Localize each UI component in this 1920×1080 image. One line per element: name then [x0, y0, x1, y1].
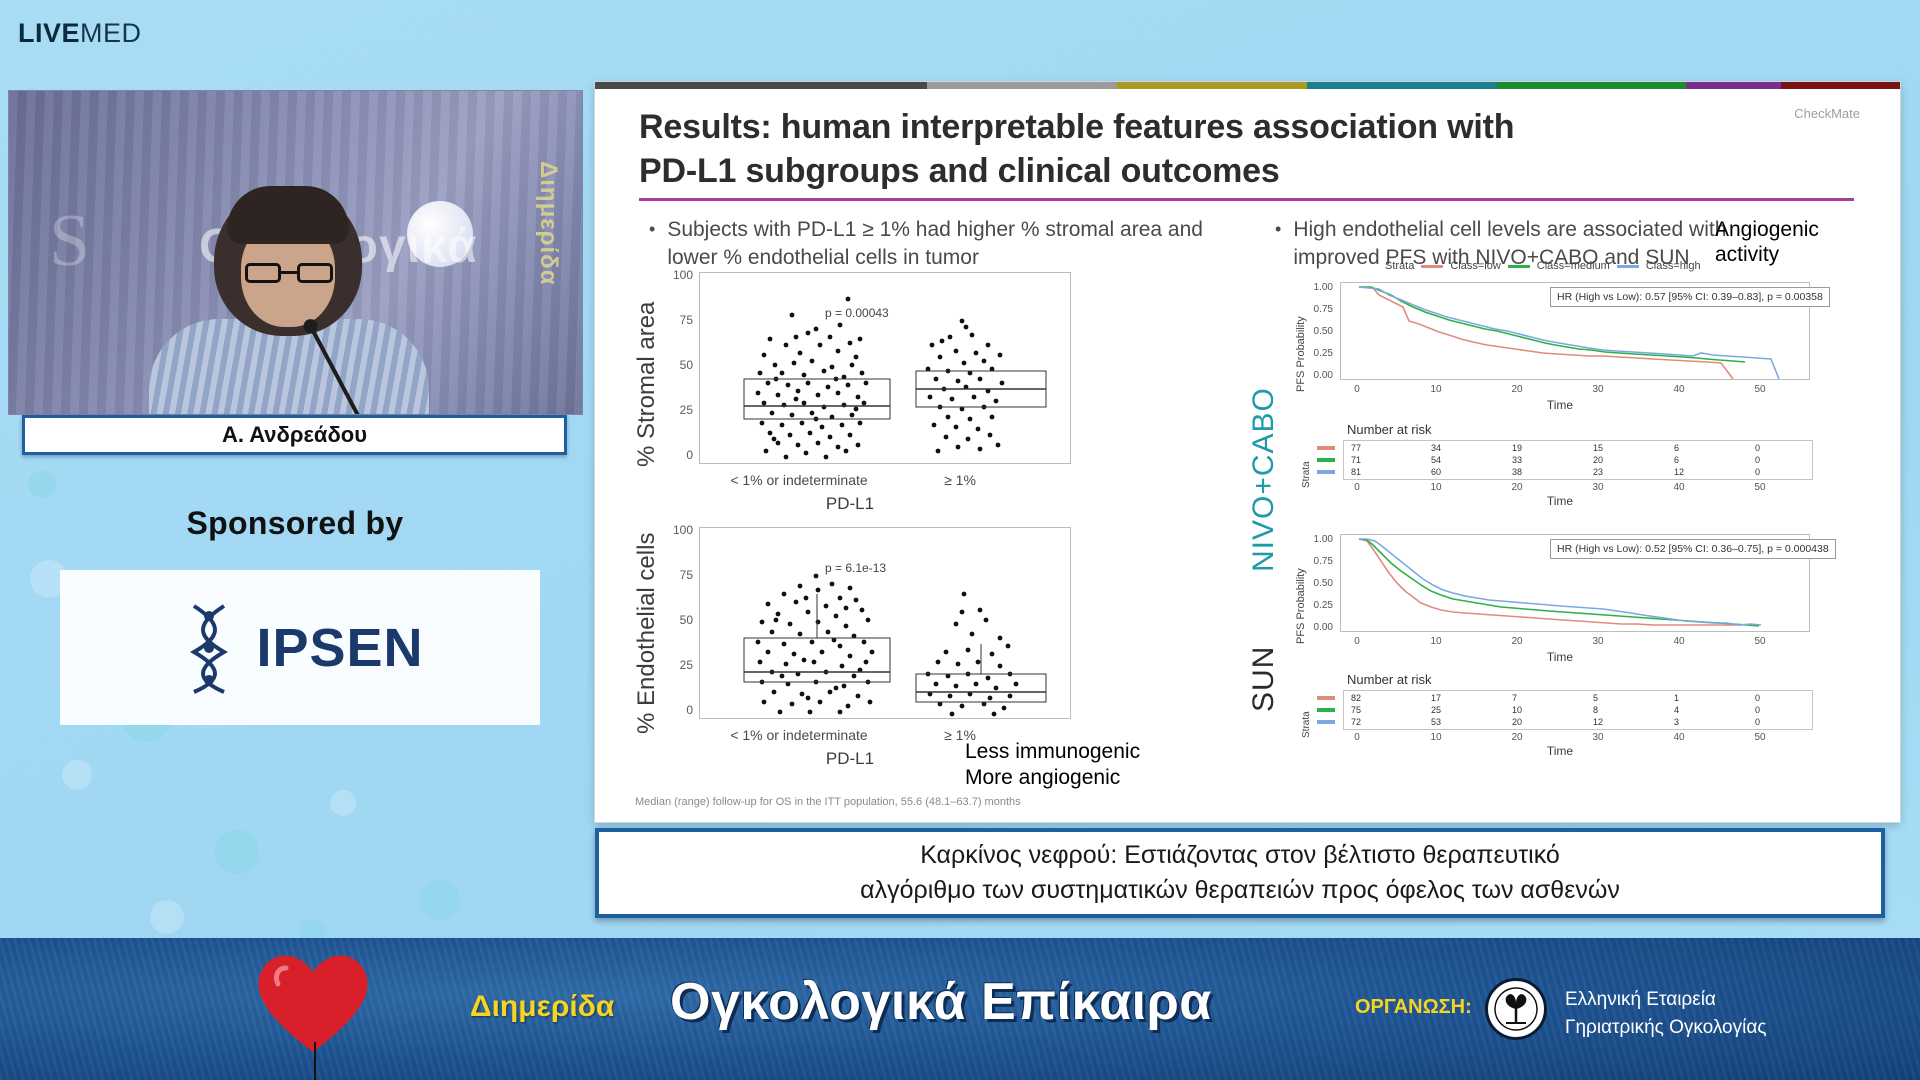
km-xlabel-sun: Time: [1510, 650, 1610, 664]
footer-dimerida-label: Διημερίδα: [470, 990, 614, 1024]
legend-label-low: Class=low: [1450, 260, 1500, 272]
video-monogram: S: [49, 199, 90, 284]
ytick: 50: [663, 613, 693, 627]
km-xtick: 0: [1347, 636, 1367, 647]
risk-cell: 4: [1674, 705, 1679, 715]
brand-med: MED: [80, 18, 142, 48]
chart-endothelial-cells: % Endothelial cells 100 75 50 25 0: [625, 527, 1145, 757]
km-risk-key-high: [1317, 470, 1335, 474]
footer-organization-label: ΟΡΓΑΝΩΣΗ:: [1355, 996, 1472, 1019]
km-risk-key-low: [1317, 696, 1335, 700]
risk-cell: 5: [1593, 693, 1598, 703]
slide-color-bar-segment: [1117, 82, 1307, 89]
risk-cell: 0: [1755, 717, 1760, 727]
legend-key-high: [1617, 265, 1639, 268]
background-bubble: [62, 760, 92, 790]
km-ytick: 0.25: [1307, 348, 1333, 359]
km-xtick: 30: [1588, 636, 1608, 647]
km-xtick: 30: [1588, 384, 1608, 395]
risk-cell: 53: [1431, 717, 1441, 727]
bullet-left: • Subjects with PD-L1 ≥ 1% had higher % …: [649, 216, 1209, 273]
chart-endo-ylabel: % Endothelial cells: [633, 519, 661, 734]
risk-cell: 72: [1351, 717, 1361, 727]
background-bubble: [420, 880, 460, 920]
km-risk-xtick: 40: [1669, 482, 1689, 493]
event-footer: Διημερίδα Ογκολογικά Επίκαιρα ΟΡΓΑΝΩΣΗ: …: [0, 938, 1920, 1080]
km-hr-box-sun: HR (High vs Low): 0.52 [95% CI: 0.36–0.7…: [1550, 539, 1836, 559]
km-hr-box-nivo-cabo: HR (High vs Low): 0.57 [95% CI: 0.39–0.8…: [1550, 287, 1830, 307]
km-risk-key-low: [1317, 446, 1335, 450]
chart-stromal-ylabel: % Stromal area: [633, 272, 661, 467]
risk-cell: 15: [1593, 443, 1603, 453]
risk-cell: 25: [1431, 705, 1441, 715]
km-xtick: 20: [1507, 384, 1527, 395]
risk-cell: 60: [1431, 467, 1441, 477]
ytick: 50: [663, 358, 693, 372]
risk-cell: 20: [1593, 455, 1603, 465]
background-bubble: [28, 470, 56, 498]
slide-corner-label: CheckMate: [1794, 106, 1860, 121]
risk-cell: 17: [1431, 693, 1441, 703]
ytick: 75: [663, 313, 693, 327]
ytick: 25: [663, 658, 693, 672]
legend-key-low: [1421, 265, 1443, 268]
risk-cell: 12: [1593, 717, 1603, 727]
slide-color-bar-segment: [1307, 82, 1497, 89]
km-xtick: 50: [1750, 636, 1770, 647]
background-bubble: [215, 830, 259, 874]
risk-cell: 12: [1674, 467, 1684, 477]
chart-endo-pvalue: p = 6.1e-13: [825, 561, 886, 575]
ytick: 100: [663, 523, 693, 537]
risk-cell: 34: [1431, 443, 1441, 453]
risk-cell: 8: [1593, 705, 1598, 715]
km-risk-xtick: 30: [1588, 482, 1608, 493]
chart-stromal-xtick-1: < 1% or indeterminate: [709, 472, 889, 488]
bullet-marker-icon: •: [1275, 216, 1281, 273]
km-risk-xlabel-nivo-cabo: Time: [1510, 494, 1610, 508]
session-title-line-1: Καρκίνος νεφρού: Εστιάζοντας στον βέλτισ…: [920, 838, 1560, 874]
footer-event-title: Ογκολογικά Επίκαιρα: [670, 972, 1212, 1032]
slide-color-bar-segment: [927, 82, 1117, 89]
bullet-marker-icon: •: [649, 216, 655, 273]
slide-color-bar-segment: [1497, 82, 1687, 89]
km-xtick: 10: [1426, 636, 1446, 647]
km-xtick: 10: [1426, 384, 1446, 395]
arm-label-nivo-cabo: NIVO+CABO: [1247, 372, 1281, 572]
km-ylabel-nivo-cabo: PFS Probability: [1295, 282, 1307, 392]
ytick: 75: [663, 568, 693, 582]
video-backdrop-side-text: Διημερίδα: [534, 161, 562, 285]
chart-stromal-xtick-2: ≥ 1%: [915, 472, 1005, 488]
footer-org-name-line-2: Γηριατρικής Ογκολογίας: [1565, 1014, 1766, 1042]
annotation-less-immunogenic: Less immunogenic: [965, 740, 1140, 765]
footer-org-name-line-1: Ελληνική Εταιρεία: [1565, 986, 1766, 1014]
km-risk-xtick: 50: [1750, 482, 1770, 493]
ytick: 0: [663, 703, 693, 717]
km-xtick: 50: [1750, 384, 1770, 395]
km-legend-nivo-cabo: Strata Class=low Class=medium Class=high: [1385, 260, 1701, 272]
chart-endo-xtick-1: < 1% or indeterminate: [709, 727, 889, 743]
livemed-logo: LIVEMED: [18, 18, 142, 49]
km-ytick: 0.75: [1307, 304, 1333, 315]
km-risk-xtick: 30: [1588, 732, 1608, 743]
chart-endo-xlabel: PD-L1: [775, 749, 925, 769]
ipsen-wordmark: IPSEN: [256, 617, 423, 679]
title-underline: [639, 198, 1854, 201]
km-ylabel-sun: PFS Probability: [1295, 534, 1307, 644]
risk-cell: 38: [1512, 467, 1522, 477]
presentation-slide[interactable]: Results: human interpretable features as…: [595, 82, 1900, 822]
slide-color-bar-segment: [1686, 82, 1781, 89]
km-ytick: 0.75: [1307, 556, 1333, 567]
chart-stromal-canvas: [700, 273, 1070, 463]
session-title-line-2: αλγόριθμο των συστηματικών θεραπειών προ…: [860, 873, 1620, 909]
chart-stromal-xlabel: PD-L1: [775, 494, 925, 514]
km-risk-xtick: 50: [1750, 732, 1770, 743]
km-risk-key-medium: [1317, 708, 1335, 712]
risk-cell: 10: [1512, 705, 1522, 715]
speaker-glasses: [245, 263, 333, 283]
background-bubble: [150, 900, 184, 934]
risk-cell: 20: [1512, 717, 1522, 727]
chart-endo-canvas: [700, 528, 1070, 718]
km-risk-xtick: 20: [1507, 482, 1527, 493]
slide-footnote: Median (range) follow-up for OS in the I…: [635, 796, 1021, 808]
risk-cell: 19: [1512, 443, 1522, 453]
km-ytick: 1.00: [1307, 534, 1333, 545]
legend-key-medium: [1508, 265, 1530, 268]
annotation-angiogenic-activity: Angiogenic activity: [1715, 218, 1845, 268]
risk-cell: 71: [1351, 455, 1361, 465]
background-bubble: [330, 790, 356, 816]
risk-cell: 0: [1755, 443, 1760, 453]
risk-cell: 77: [1351, 443, 1361, 453]
brand-live: LIVE: [18, 18, 80, 48]
session-title-banner: Καρκίνος νεφρού: Εστιάζοντας στον βέλτισ…: [595, 828, 1885, 918]
sponsored-by-heading: Sponsored by: [0, 505, 590, 542]
km-risk-box-sun: [1343, 690, 1813, 730]
km-xlabel-nivo-cabo: Time: [1510, 398, 1610, 412]
km-xtick: 40: [1669, 384, 1689, 395]
legend-label-high: Class=high: [1646, 260, 1701, 272]
km-risk-strata-label-nivo-cabo: Strata: [1301, 444, 1312, 488]
km-ytick: 0.25: [1307, 600, 1333, 611]
km-risk-strata-label-sun: Strata: [1301, 694, 1312, 738]
chart-stromal-area: % Stromal area 100 75 50 25 0: [625, 272, 1145, 502]
km-risk-title-nivo-cabo: Number at risk: [1347, 422, 1432, 437]
km-ytick: 0.00: [1307, 622, 1333, 633]
slide-title: Results: human interpretable features as…: [639, 106, 1569, 193]
risk-cell: 1: [1674, 693, 1679, 703]
km-ytick: 0.00: [1307, 370, 1333, 381]
chart-stromal-pvalue: p = 0.00043: [825, 306, 889, 320]
risk-cell: 7: [1512, 693, 1517, 703]
km-ytick: 0.50: [1307, 578, 1333, 589]
speaker-fringe: [227, 186, 349, 244]
ytick: 0: [663, 448, 693, 462]
risk-cell: 33: [1512, 455, 1522, 465]
bullet-left-text: Subjects with PD-L1 ≥ 1% had higher % st…: [667, 216, 1209, 273]
risk-cell: 0: [1755, 705, 1760, 715]
km-xtick: 0: [1347, 384, 1367, 395]
km-ytick: 0.50: [1307, 326, 1333, 337]
legend-title: Strata: [1385, 260, 1414, 272]
chart-stromal-panel: [699, 272, 1071, 464]
speaker-name: Α. Ανδρεάδου: [222, 422, 367, 448]
slide-color-bar-segment: [595, 82, 927, 89]
risk-cell: 81: [1351, 467, 1361, 477]
km-risk-xtick: 40: [1669, 732, 1689, 743]
risk-cell: 23: [1593, 467, 1603, 477]
slide-color-bar-segment: [1781, 82, 1900, 89]
speaker-video[interactable]: S Ογκολογικά α Διημερίδα: [8, 90, 583, 415]
risk-cell: 75: [1351, 705, 1361, 715]
speaker-name-plate: Α. Ανδρεάδου: [22, 415, 567, 455]
legend-label-medium: Class=medium: [1537, 260, 1610, 272]
heart-balloon-icon: [248, 946, 383, 1066]
km-risk-key-high: [1317, 720, 1335, 724]
annotation-more-angiogenic: More angiogenic: [965, 766, 1120, 791]
tree-emblem-icon: [1485, 978, 1547, 1040]
km-risk-box-nivo-cabo: [1343, 440, 1813, 480]
km-xtick: 40: [1669, 636, 1689, 647]
km-ytick: 1.00: [1307, 282, 1333, 293]
km-risk-xtick: 10: [1426, 732, 1446, 743]
sponsor-logo: IPSEN: [60, 570, 540, 725]
risk-cell: 54: [1431, 455, 1441, 465]
km-risk-key-medium: [1317, 458, 1335, 462]
risk-cell: 6: [1674, 455, 1679, 465]
ytick: 100: [663, 268, 693, 282]
risk-cell: 0: [1755, 467, 1760, 477]
risk-cell: 6: [1674, 443, 1679, 453]
km-risk-xlabel-sun: Time: [1510, 744, 1610, 758]
km-risk-xtick: 20: [1507, 732, 1527, 743]
risk-cell: 0: [1755, 693, 1760, 703]
km-xtick: 20: [1507, 636, 1527, 647]
arm-label-sun: SUN: [1247, 622, 1281, 712]
risk-cell: 3: [1674, 717, 1679, 727]
km-risk-xtick: 0: [1347, 482, 1367, 493]
balloon-string: [314, 1042, 316, 1080]
ytick: 25: [663, 403, 693, 417]
km-risk-title-sun: Number at risk: [1347, 672, 1432, 687]
slide-color-bar: [595, 82, 1900, 89]
ipsen-dna-icon: [176, 600, 242, 696]
risk-cell: 0: [1755, 455, 1760, 465]
km-risk-xtick: 10: [1426, 482, 1446, 493]
risk-cell: 82: [1351, 693, 1361, 703]
footer-organization-name: Ελληνική Εταιρεία Γηριατρικής Ογκολογίας: [1565, 986, 1766, 1041]
km-risk-xtick: 0: [1347, 732, 1367, 743]
chart-endo-panel: [699, 527, 1071, 719]
